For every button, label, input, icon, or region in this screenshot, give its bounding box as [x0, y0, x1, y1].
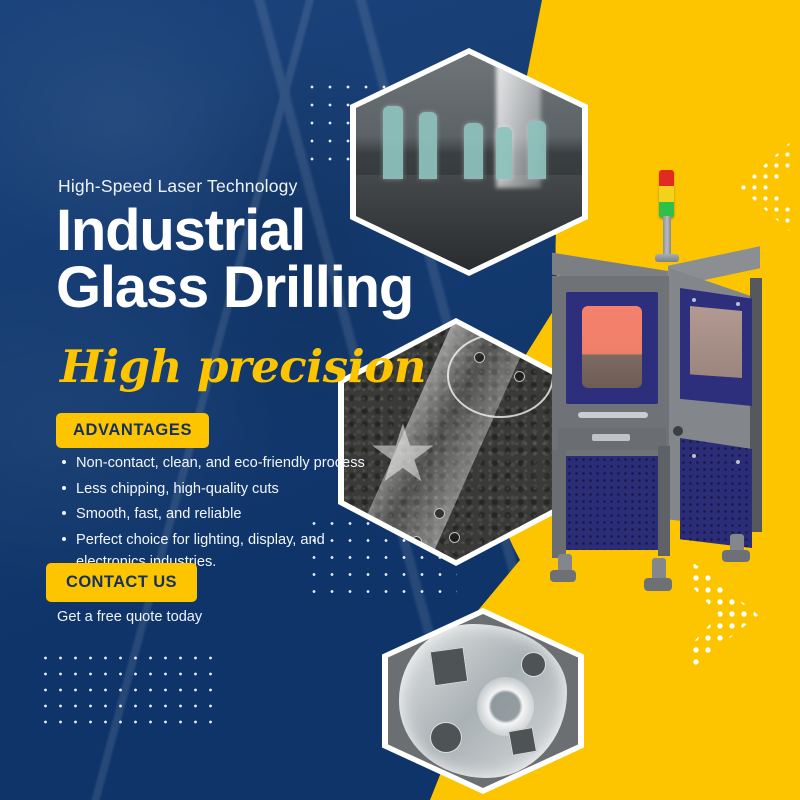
drilled-hole [434, 508, 445, 519]
promotional-poster: High-Speed Laser Technology Industrial G… [0, 0, 800, 800]
hex-photo-bottom-inner [388, 614, 578, 788]
screw [736, 302, 740, 306]
stack-light-icon [659, 170, 674, 218]
machine-lower-panel-right [680, 438, 752, 548]
kicker-text: High-Speed Laser Technology [58, 176, 298, 197]
machine-label-slot [592, 434, 630, 441]
list-item: Less chipping, high-quality cuts [58, 478, 388, 501]
drilled-hole [449, 532, 460, 543]
stack-light-base [655, 254, 679, 262]
headline-line-2: Glass Drilling [56, 260, 413, 317]
screw [692, 298, 696, 302]
dot-grid-bottom-left [38, 650, 214, 732]
glass-plate [383, 106, 403, 179]
contact-us-button[interactable]: CONTACT US [46, 563, 197, 602]
screw [736, 460, 740, 464]
page-title: Industrial Glass Drilling [56, 203, 413, 317]
script-subtitle: High precision [60, 340, 426, 393]
list-item: Non-contact, clean, and eco-friendly pro… [58, 452, 388, 475]
machine-window-right [690, 306, 742, 378]
laser-machine-illustration [540, 170, 780, 620]
screw [692, 454, 696, 458]
glass-plate [419, 112, 437, 179]
square-hole [508, 727, 537, 756]
square-hole [429, 647, 468, 686]
machine-foot [550, 570, 576, 582]
machine-foot [644, 578, 672, 591]
advantages-badge: ADVANTAGES [56, 413, 209, 448]
machine-foot [722, 550, 750, 562]
stack-light-pole [663, 216, 671, 258]
list-item: Smooth, fast, and reliable [58, 503, 388, 526]
machine-handle-bar [578, 412, 648, 418]
machine-frame-left [552, 450, 566, 558]
round-hole [521, 652, 546, 677]
glass-plate [496, 127, 512, 179]
tagline-text: Get a free quote today [57, 609, 202, 625]
drilled-glass-blank-photo [388, 614, 578, 788]
machine-lower-panel-left [566, 456, 658, 550]
glass-plate [464, 123, 482, 179]
advantages-list: Non-contact, clean, and eco-friendly pro… [58, 452, 388, 577]
machine-window-left [582, 306, 642, 388]
headline-line-1: Industrial [56, 203, 413, 260]
center-bore [477, 677, 534, 736]
machine-knob [673, 426, 683, 436]
machine-frame-right [658, 446, 670, 556]
